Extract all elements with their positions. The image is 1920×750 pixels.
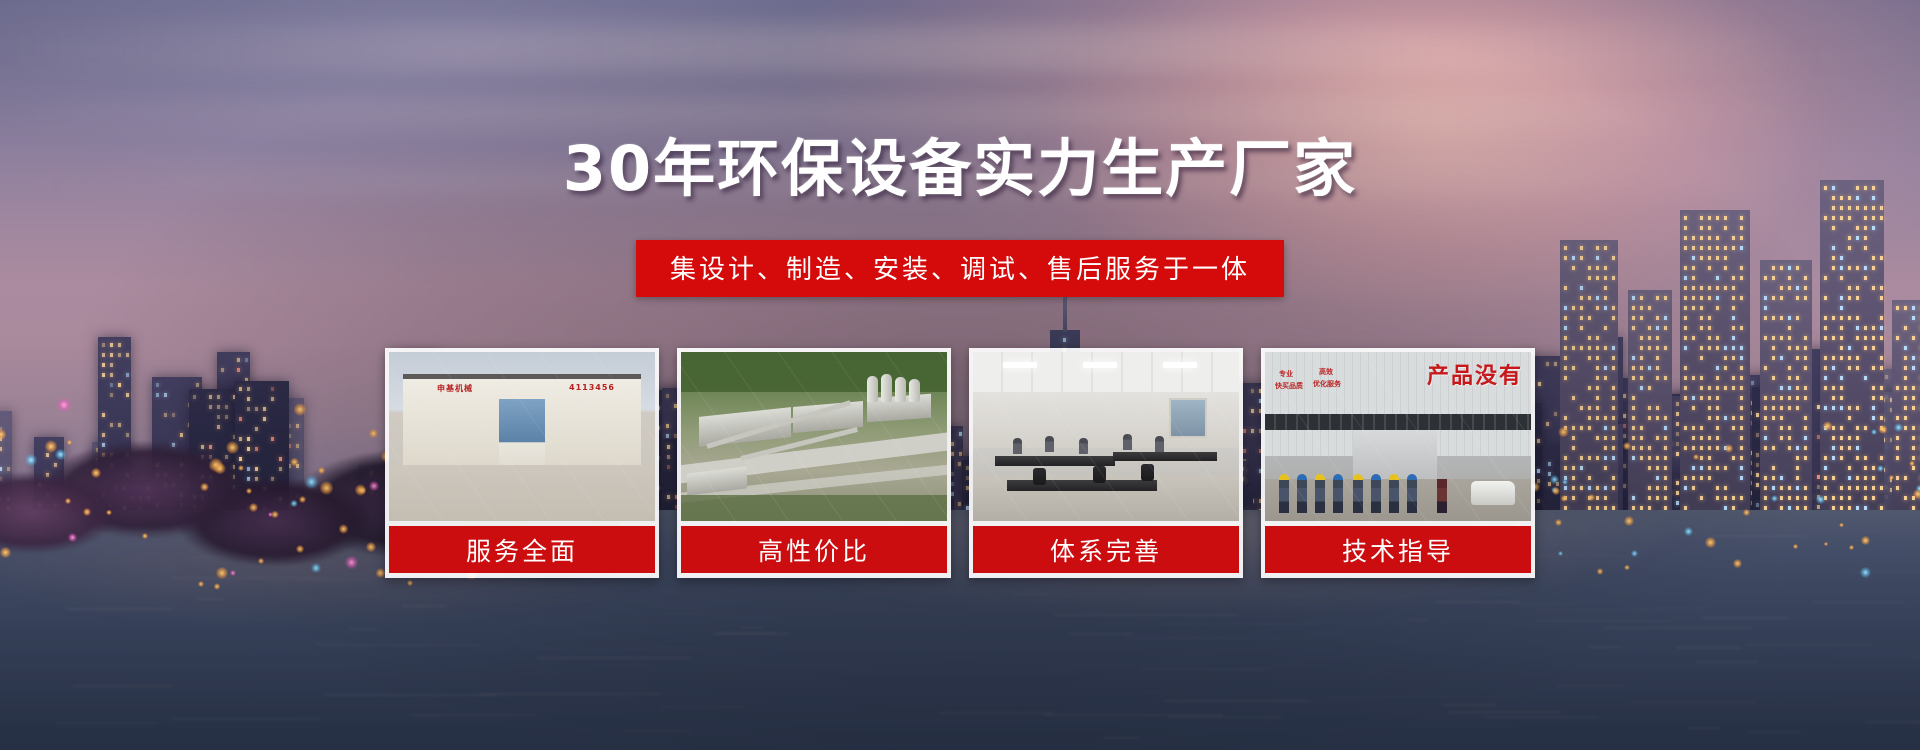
building-phone-sign: 4113456: [569, 383, 615, 392]
worker-figure: [1279, 479, 1289, 513]
office-chair: [1141, 464, 1154, 481]
worker-figure: [1389, 479, 1399, 513]
safety-helmet: [1371, 474, 1381, 480]
worker-figure: [1297, 479, 1307, 513]
treeline: [681, 352, 947, 392]
office-desk: [1007, 480, 1157, 491]
office-ceiling: [973, 352, 1239, 392]
worker-figure: [1333, 479, 1343, 513]
ceiling-light: [1003, 362, 1037, 368]
workshop-banner-small: 优化服务: [1313, 380, 1341, 388]
office-chair: [1033, 468, 1046, 485]
safety-helmet: [1407, 474, 1417, 480]
safety-helmet: [1279, 474, 1289, 480]
silo: [867, 376, 878, 402]
worker-figure: [1353, 479, 1363, 513]
page-title: 30年环保设备实力生产厂家: [0, 118, 1920, 208]
worker-figure: [1371, 479, 1381, 513]
company-headquarters-photo: 申基机械 4113456: [389, 352, 655, 521]
workshop-banner-large: 产品没有: [1427, 358, 1523, 390]
feature-card[interactable]: 体系完善: [969, 348, 1243, 578]
workshop-banner-small: 快买品质: [1275, 382, 1303, 390]
office-desk: [1113, 452, 1217, 461]
worker-figure: [1437, 479, 1447, 513]
worker-figure: [1315, 479, 1325, 513]
workshop-banner-small: 高效: [1319, 368, 1333, 376]
office-person: [1079, 438, 1088, 454]
safety-helmet: [1315, 474, 1325, 480]
parked-van: [1471, 481, 1515, 505]
subtitle-badge: 集设计、制造、安装、调试、售后服务于一体: [636, 240, 1284, 297]
feature-card[interactable]: 申基机械 4113456 服务全面: [385, 348, 659, 578]
feature-card-label: 服务全面: [389, 526, 655, 573]
silo: [895, 377, 906, 402]
hero-banner: 30年环保设备实力生产厂家 集设计、制造、安装、调试、售后服务于一体 申基机械 …: [0, 0, 1920, 750]
office-person: [1045, 436, 1054, 452]
safety-helmet: [1389, 474, 1399, 480]
silo: [909, 379, 920, 402]
safety-helmet: [1297, 474, 1307, 480]
safety-helmet: [1353, 474, 1363, 480]
ceiling-light: [1163, 362, 1197, 368]
workshop-window-strip: [1265, 414, 1531, 430]
feature-card[interactable]: 产品没有 专业 快买品质 高效 优化服务: [1261, 348, 1535, 578]
office-window: [1169, 398, 1207, 438]
plant-greenery: [681, 495, 947, 521]
feature-card-label: 体系完善: [973, 526, 1239, 573]
safety-helmet: [1333, 474, 1343, 480]
workshop-banner-small: 专业: [1279, 370, 1293, 378]
feature-card-label: 技术指导: [1265, 526, 1531, 573]
ceiling-light: [1083, 362, 1117, 368]
office-chair: [1093, 466, 1106, 483]
feature-card-list: 申基机械 4113456 服务全面: [385, 348, 1535, 578]
feature-card-label: 高性价比: [681, 526, 947, 573]
building-facade: 申基机械 4113456: [403, 374, 641, 470]
office-person: [1155, 436, 1164, 452]
aerial-factory-plant-photo: [681, 352, 947, 521]
silo: [881, 374, 892, 402]
office-person: [1123, 434, 1132, 450]
office-desk: [995, 456, 1115, 466]
factory-workshop-workers-photo: 产品没有 专业 快买品质 高效 优化服务: [1265, 352, 1531, 521]
courtyard-ground: [389, 465, 655, 521]
building-company-sign: 申基机械: [437, 383, 473, 394]
feature-card[interactable]: 高性价比: [677, 348, 951, 578]
office-workspace-photo: [973, 352, 1239, 521]
office-person: [1013, 438, 1022, 454]
banner-content: 30年环保设备实力生产厂家 集设计、制造、安装、调试、售后服务于一体 申基机械 …: [0, 0, 1920, 750]
worker-figure: [1407, 479, 1417, 513]
